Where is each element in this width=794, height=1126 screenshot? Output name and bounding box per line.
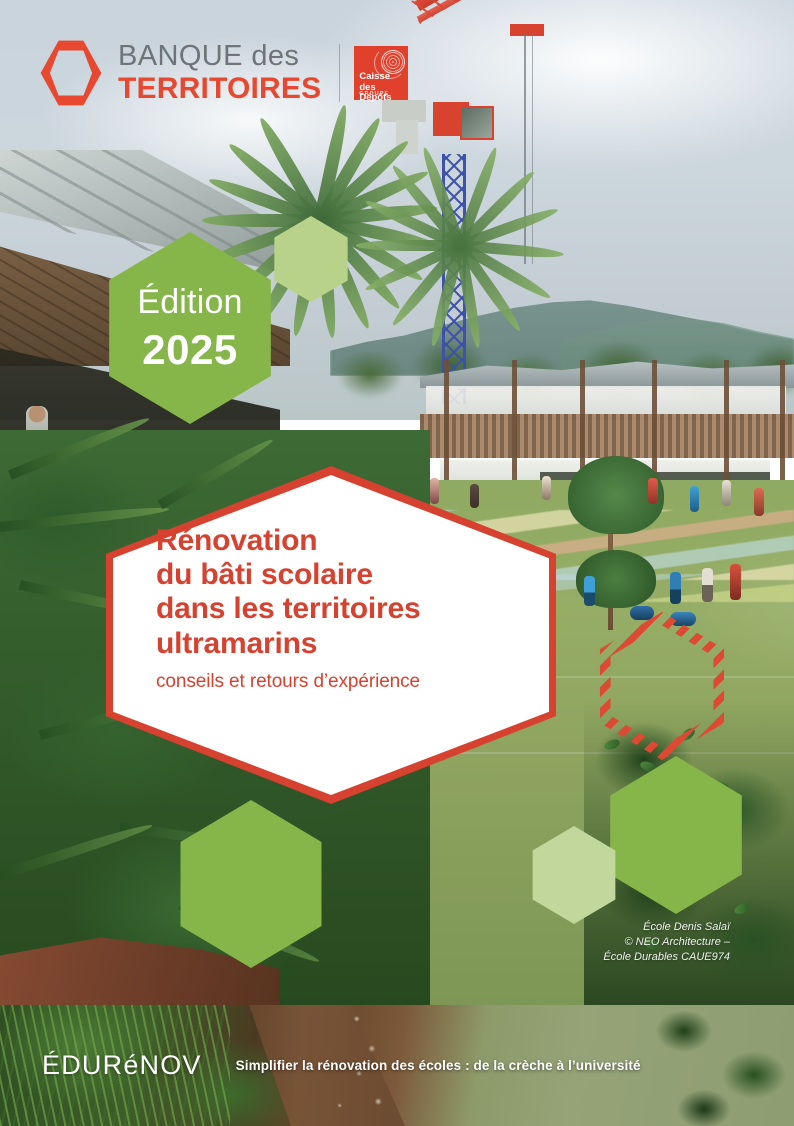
edition-year: 2025 (142, 329, 237, 371)
child-figure (702, 568, 713, 602)
decorative-hexagon-light-green-bottom (530, 826, 618, 924)
edurenov-logo[interactable]: ÉDURéNOV (42, 1050, 202, 1081)
crane-jib-lattice (408, 0, 607, 24)
child-figure (690, 486, 699, 512)
child-figure (754, 488, 764, 516)
photo-credit-line-1: École Denis Salaï (603, 920, 730, 935)
school-roof (420, 360, 794, 388)
banque-des-territoires-wordmark: BANQUE des TERRITOIRES (118, 42, 321, 105)
logo-line-1: BANQUE des (118, 42, 321, 71)
edurenov-logo-part-1: ÉDUR (42, 1050, 123, 1080)
crane-cab-window (460, 106, 494, 140)
palm-tree-upper-right (430, 150, 630, 340)
cdc-group-label: GROUPE (359, 91, 389, 97)
document-cover-page: Édition 2025 Rénovation du bâti scolaire… (0, 0, 794, 1126)
photo-credit: École Denis Salaï © NEO Architecture – É… (603, 920, 730, 965)
page-subtitle: conseils et retours d’expérience (156, 671, 526, 693)
child-figure (722, 480, 731, 506)
page-title: Rénovation du bâti scolaire dans les ter… (156, 524, 526, 661)
cdc-wordmark: Caisse des Dépôts (359, 72, 408, 104)
hexagon-logo-icon (40, 40, 102, 106)
logo-divider (339, 44, 340, 102)
footer-band: ÉDURéNOV Simplifier la rénovation des éc… (0, 1005, 794, 1126)
photo-credit-line-3: École Durables CAUE974 (603, 950, 730, 965)
edurenov-logo-part-3: NOV (140, 1050, 202, 1080)
logo-word-des: des (243, 40, 299, 72)
page-title-line-3: dans les territoires (156, 592, 420, 625)
decorative-hexagon-green-bottom-left (176, 800, 326, 968)
decorative-hexagon-light-green-top (272, 216, 350, 302)
page-title-line-2: du bâti scolaire (156, 558, 373, 591)
decorative-hexagon-striped-red (596, 612, 728, 760)
edurenov-logo-part-2: é (123, 1050, 139, 1080)
caisse-des-depots-logo[interactable]: Caisse des Dépôts GROUPE (354, 46, 408, 100)
child-figure (730, 564, 741, 600)
banque-des-territoires-logo[interactable]: BANQUE des TERRITOIRES Caisse des Dépôts… (40, 40, 408, 106)
cdc-line-1: Caisse (359, 71, 390, 82)
school-balcony-railing (420, 414, 794, 458)
page-title-line-1: Rénovation (156, 524, 317, 557)
crane-trolley (510, 24, 544, 36)
title-card-text: Rénovation du bâti scolaire dans les ter… (156, 524, 526, 693)
logo-word-banque: BANQUE (118, 40, 243, 72)
logo-line-2: TERRITOIRES (118, 73, 321, 105)
edition-badge: Édition 2025 (104, 232, 276, 424)
title-card: Rénovation du bâti scolaire dans les ter… (106, 466, 556, 804)
footer-tagline: Simplifier la rénovation des écoles : de… (236, 1058, 641, 1073)
photo-credit-line-2: © NEO Architecture – (603, 935, 730, 950)
decorative-hexagon-green-bottom-right (606, 756, 746, 914)
edition-label: Édition (137, 285, 242, 319)
child-figure (648, 478, 658, 504)
child-figure (670, 572, 681, 604)
page-title-line-4: ultramarins (156, 627, 317, 660)
child-figure (584, 576, 595, 606)
